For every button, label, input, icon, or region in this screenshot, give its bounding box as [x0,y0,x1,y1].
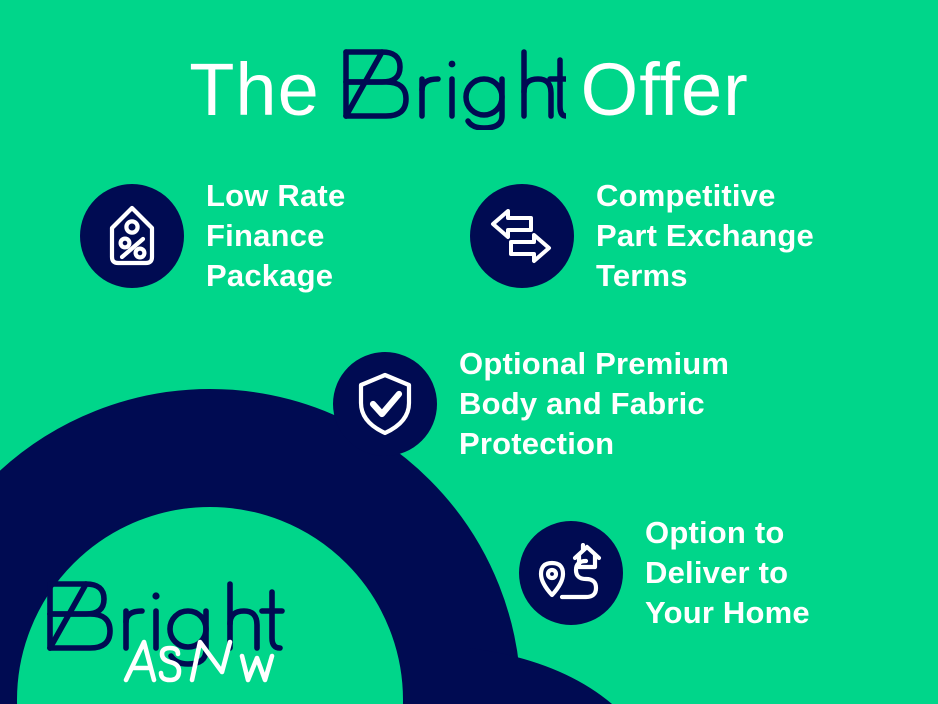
feature-icon-badge [519,521,623,625]
feature-label: Optional Premium Body and Fabric Protect… [459,344,729,464]
poster-canvas: The [0,0,938,704]
price-tag-percent-icon [102,205,162,267]
delivery-route-home-icon [538,543,604,603]
page-title: The [0,46,938,134]
feature-part-exchange: Competitive Part Exchange Terms [470,176,814,296]
feature-icon-badge [470,184,574,288]
exchange-arrows-icon [490,207,554,265]
shield-check-icon [356,372,414,436]
brand-logo[interactable] [40,578,300,686]
feature-icon-badge [333,352,437,456]
logo-i-dot [152,592,159,599]
feature-body-fabric-protection: Optional Premium Body and Fabric Protect… [333,344,729,464]
feature-label: Option to Deliver to Your Home [645,513,810,633]
feature-icon-badge [80,184,184,288]
feature-low-rate-finance: Low Rate Finance Package [80,176,345,296]
feature-label: Low Rate Finance Package [206,176,345,296]
title-prefix: The [189,48,320,131]
title-suffix: Offer [581,48,749,131]
title-brand-wordmark [334,46,566,134]
feature-home-delivery: Option to Deliver to Your Home [519,513,810,633]
feature-label: Competitive Part Exchange Terms [596,176,814,296]
logo-primary-wordmark [50,584,282,664]
